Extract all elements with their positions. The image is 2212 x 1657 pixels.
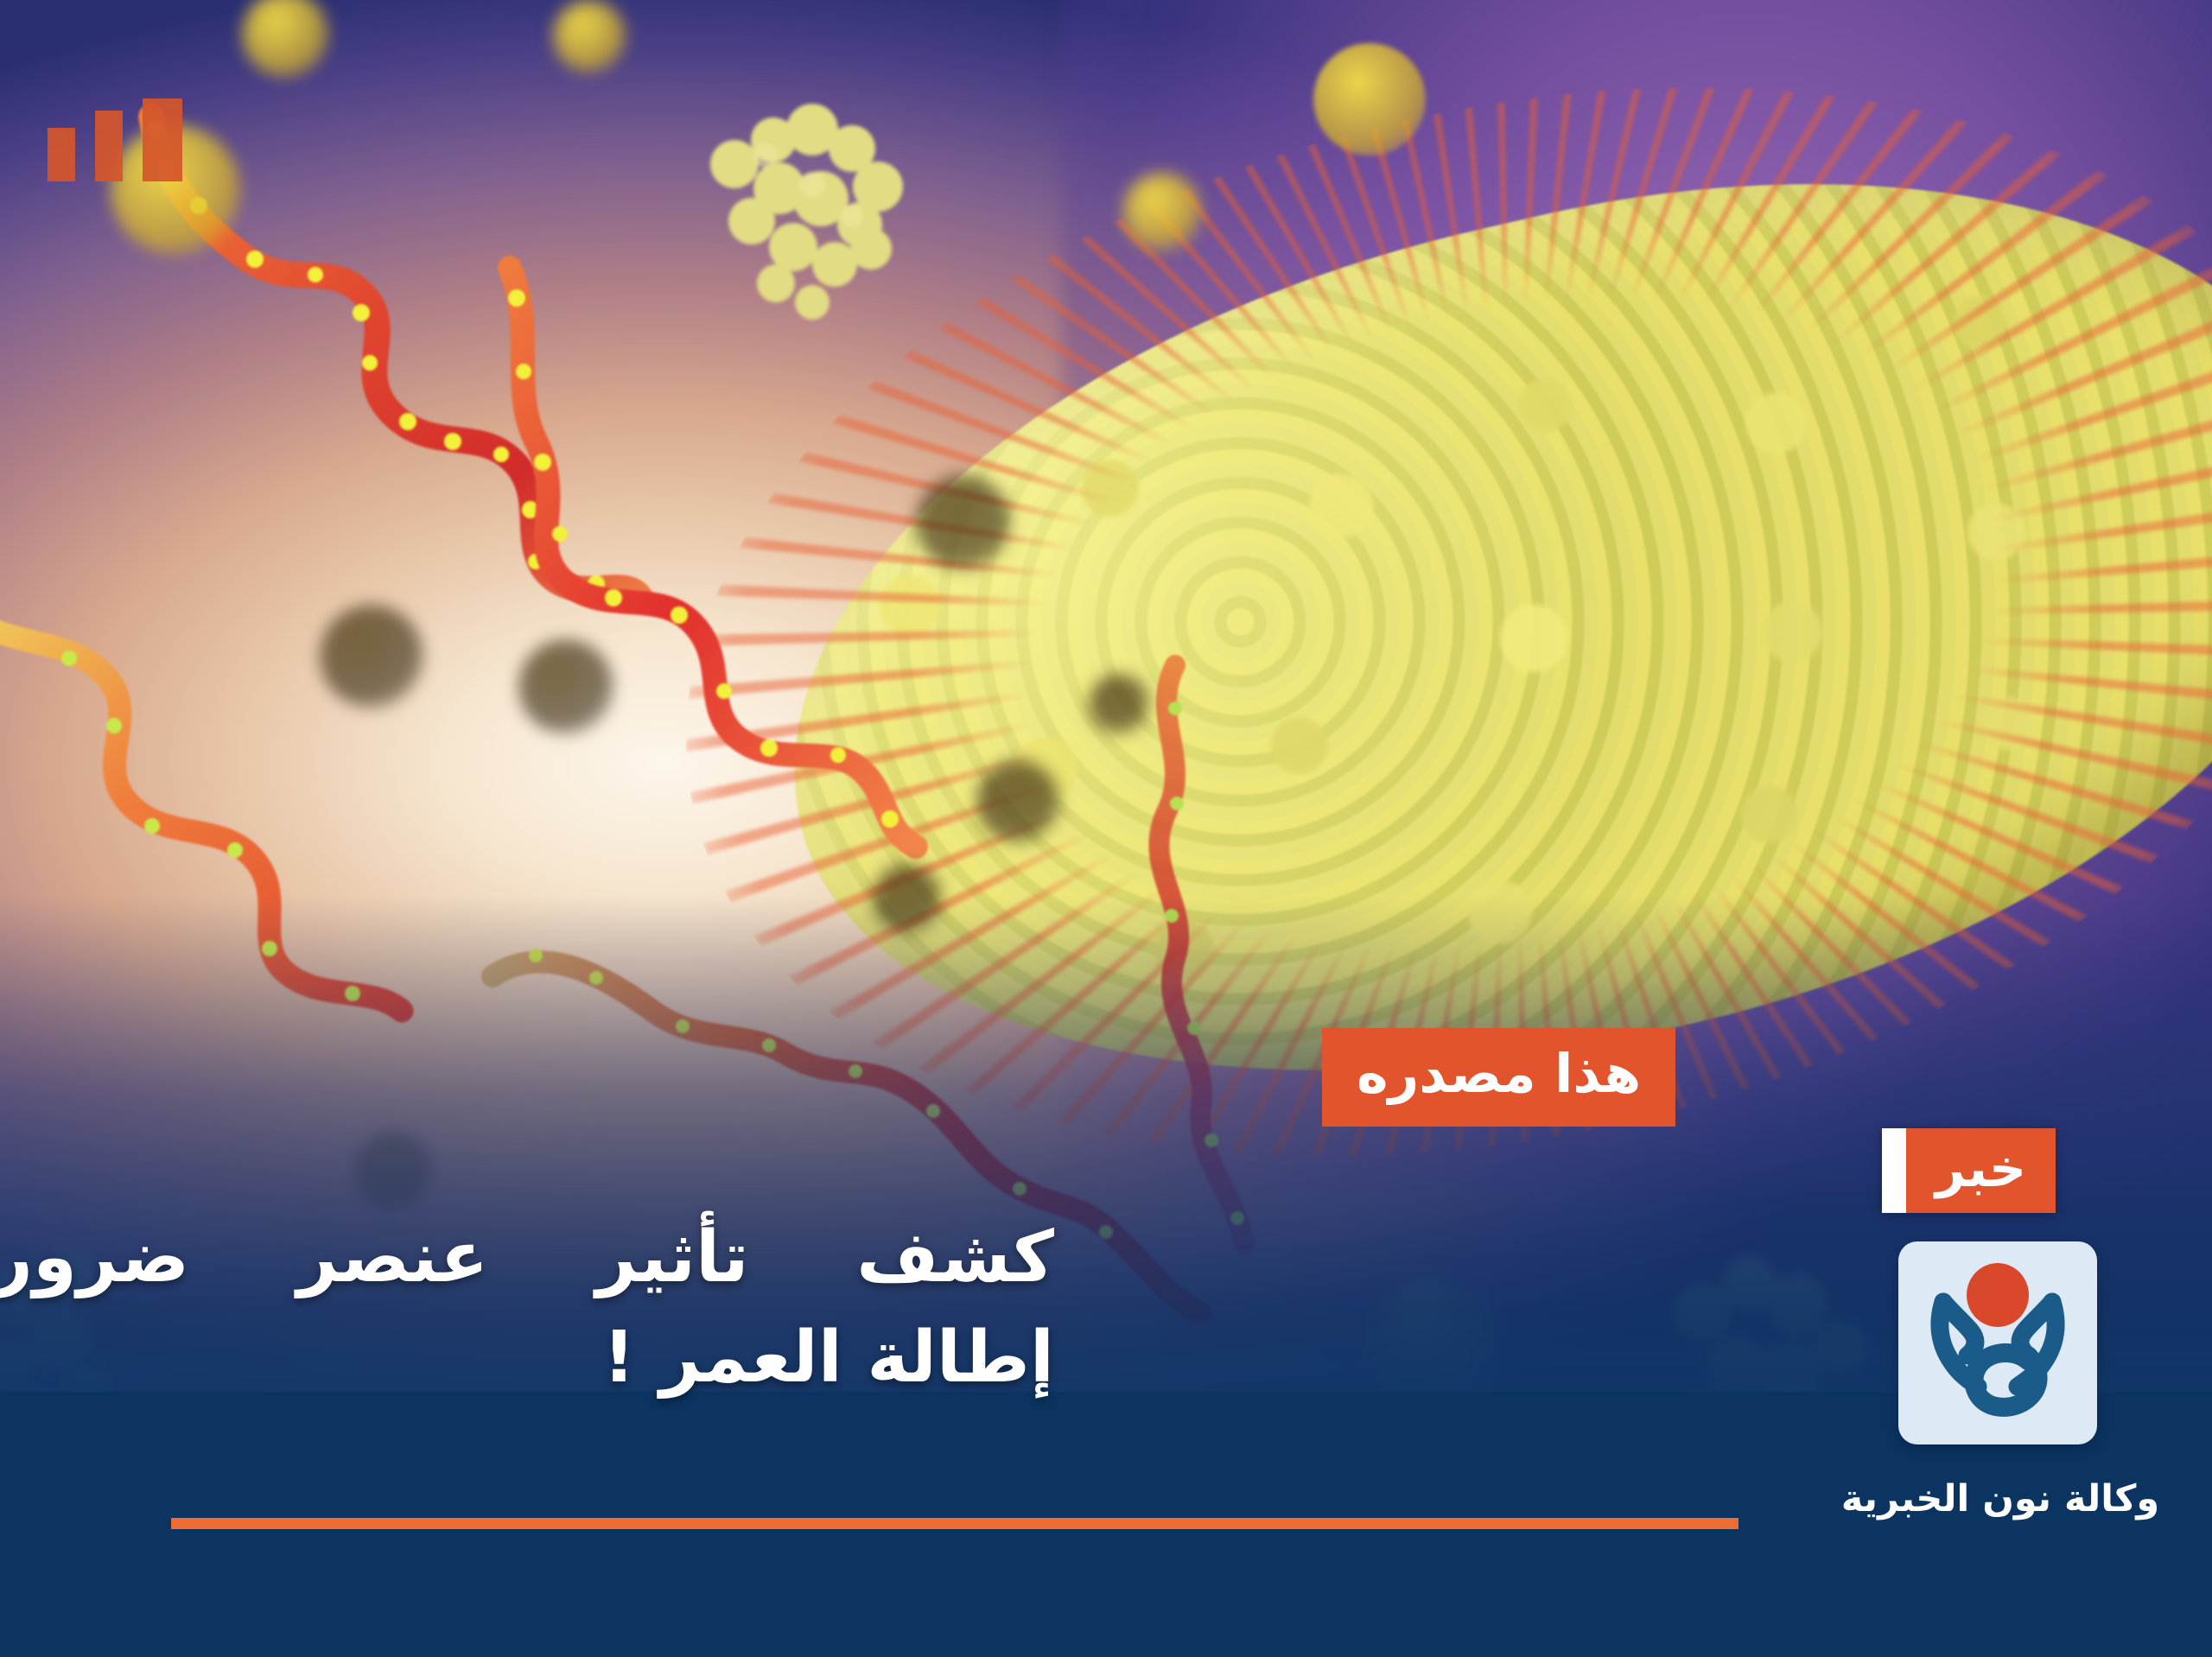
news-chip-accent-bar: [1882, 1128, 1906, 1213]
news-chip-label: خبر: [1906, 1128, 2056, 1213]
headline: كشف تأثير عنصر ضروري للصحة على إطالة الع…: [0, 1208, 1054, 1409]
news-card-stage: هذا مصدره كشف تأثير عنصر ضروري للصحة على…: [0, 0, 2212, 1657]
agency-name: وكالة نون الخبرية: [1832, 1479, 2169, 1520]
bottom-rule: [171, 1518, 1738, 1529]
headline-line-1: كشف تأثير عنصر ضروري للصحة على: [0, 1208, 1054, 1308]
headline-line-2: إطالة العمر !: [0, 1308, 1054, 1408]
source-badge: هذا مصدره: [1322, 1028, 1675, 1127]
overlay-content: هذا مصدره كشف تأثير عنصر ضروري للصحة على…: [0, 0, 2212, 1657]
agency-logo: [1898, 1241, 2097, 1444]
news-chip: خبر: [1882, 1128, 2056, 1213]
